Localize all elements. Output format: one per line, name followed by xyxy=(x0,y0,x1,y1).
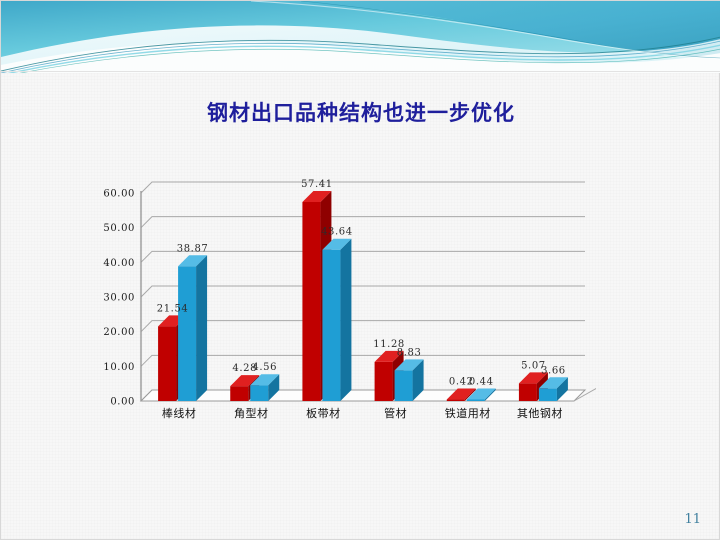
y-axis-tick-label: 20.00 xyxy=(103,327,135,338)
bar-value-label: 3.66 xyxy=(541,365,566,376)
bar-front-face xyxy=(539,388,557,401)
y-axis-tick-label: 60.00 xyxy=(103,189,135,200)
x-axis-category-label: 其他钢材 xyxy=(517,406,563,420)
bar-value-label: 8.83 xyxy=(397,347,422,358)
bar-front-face xyxy=(230,386,248,401)
gridline xyxy=(141,182,585,193)
chart-category-labels: 棒线材角型材板带材管材铁道用材其他钢材 xyxy=(162,406,563,420)
chart-floor-plane xyxy=(141,390,585,401)
y-axis-tick-label: 0.00 xyxy=(110,397,135,408)
bar-chart-3d: 0.0010.0020.0030.0040.0050.0060.00 21.54… xyxy=(96,151,596,421)
slide-canvas: 钢材出口品种结构也进一步优化 0.0010.0020.0030.0040.005… xyxy=(0,0,720,540)
bar-front-face xyxy=(178,266,196,401)
bar-front-face xyxy=(158,326,176,401)
x-axis-category-label: 管材 xyxy=(384,406,407,420)
x-axis-category-label: 板带材 xyxy=(306,406,341,420)
page-number: 11 xyxy=(684,512,701,527)
chart-bars xyxy=(158,191,568,401)
bar-front-face xyxy=(467,399,485,401)
bar-front-face xyxy=(375,362,393,401)
page-title: 钢材出口品种结构也进一步优化 xyxy=(1,97,720,127)
banner-bottom-rule xyxy=(1,71,720,72)
y-axis-tick-label: 30.00 xyxy=(103,293,135,304)
bar-value-label: 38.87 xyxy=(177,243,209,254)
bar-series-2-2 xyxy=(322,239,351,401)
y-axis-tick-label: 50.00 xyxy=(103,223,135,234)
bar-front-face xyxy=(395,370,413,401)
bar-front-face xyxy=(250,385,268,401)
bar-value-label: 21.54 xyxy=(157,303,189,314)
gridline xyxy=(141,286,585,297)
y-axis-tick-label: 40.00 xyxy=(103,258,135,269)
bar-value-label: 0.44 xyxy=(469,376,494,387)
chart-value-labels: 21.5438.874.284.5657.4143.6411.288.830.4… xyxy=(157,179,566,388)
gridline xyxy=(141,355,585,366)
chart-svg: 0.0010.0020.0030.0040.0050.0060.00 21.54… xyxy=(96,151,596,421)
bar-side-face xyxy=(340,239,351,401)
gridline xyxy=(141,321,585,332)
bar-side-face xyxy=(196,255,207,401)
x-axis-category-label: 棒线材 xyxy=(162,406,197,420)
x-axis-category-label: 铁道用材 xyxy=(445,406,491,420)
bar-front-face xyxy=(519,383,537,401)
chart-gridlines xyxy=(141,182,585,401)
chart-y-axis: 0.0010.0020.0030.0040.0050.0060.00 xyxy=(103,189,141,408)
decorative-wave-banner xyxy=(1,1,720,73)
bar-value-label: 43.64 xyxy=(321,227,353,238)
bar-value-label: 57.41 xyxy=(301,179,333,190)
bar-value-label: 4.56 xyxy=(252,362,277,373)
gridline xyxy=(141,217,585,228)
bar-series-2-0 xyxy=(178,255,207,401)
y-axis-tick-label: 10.00 xyxy=(103,362,135,373)
x-axis-category-label: 角型材 xyxy=(234,406,269,420)
bar-front-face xyxy=(447,400,465,401)
bar-front-face xyxy=(322,250,340,401)
bar-front-face xyxy=(302,202,320,401)
